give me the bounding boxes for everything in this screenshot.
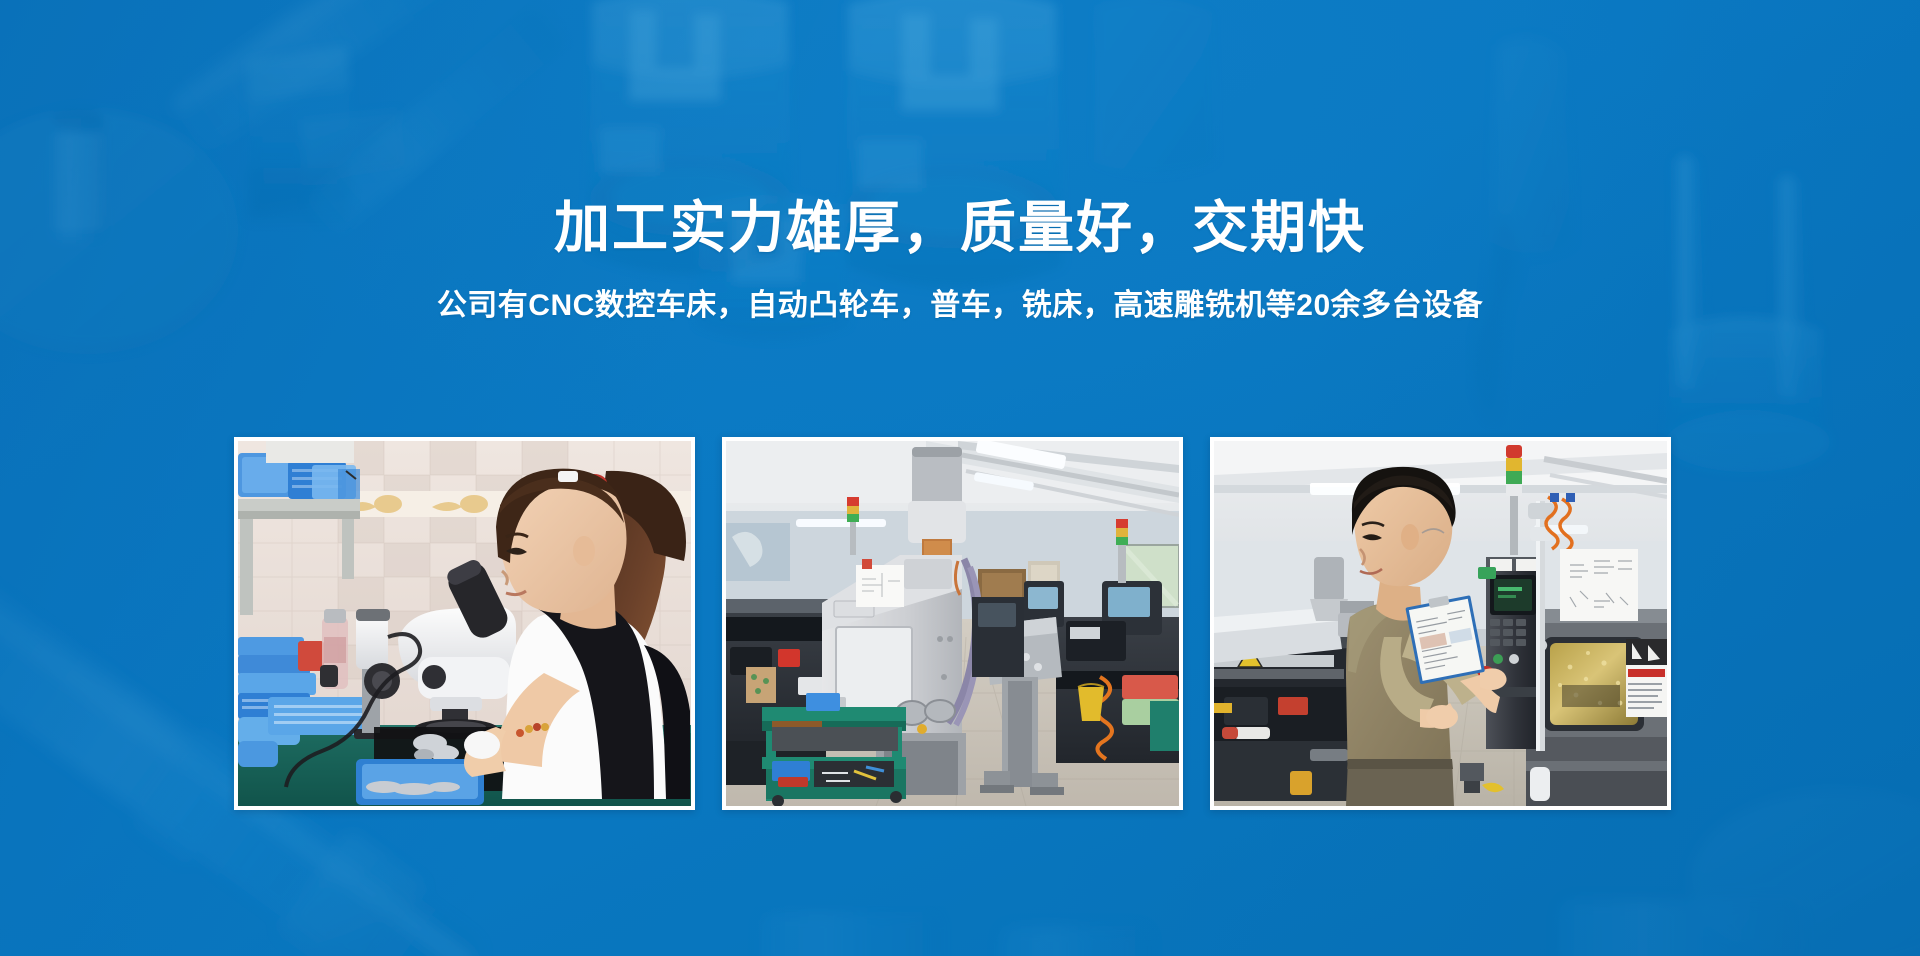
banner-headline: 加工实力雄厚，质量好，交期快 — [0, 196, 1920, 260]
company-capability-banner: 加工实力雄厚，质量好，交期快 公司有CNC数控车床，自动凸轮车，普车，铣床，高速… — [0, 0, 1920, 956]
photo-cnc-workshop[interactable]: CNC数控车床车间全景 — [722, 437, 1183, 810]
banner-text-block: 加工实力雄厚，质量好，交期快 公司有CNC数控车床，自动凸轮车，普车，铣床，高速… — [0, 196, 1920, 324]
photo-machine-operator[interactable]: 操作员在数控机床控制面板前作业 — [1210, 437, 1671, 810]
factory-photo-gallery: 女工在显微镜下检查金属零件 — [234, 437, 1671, 810]
banner-subheadline: 公司有CNC数控车床，自动凸轮车，普车，铣床，高速雕铣机等20余多台设备 — [0, 288, 1920, 324]
photo-quality-inspection[interactable]: 女工在显微镜下检查金属零件 — [234, 437, 695, 810]
